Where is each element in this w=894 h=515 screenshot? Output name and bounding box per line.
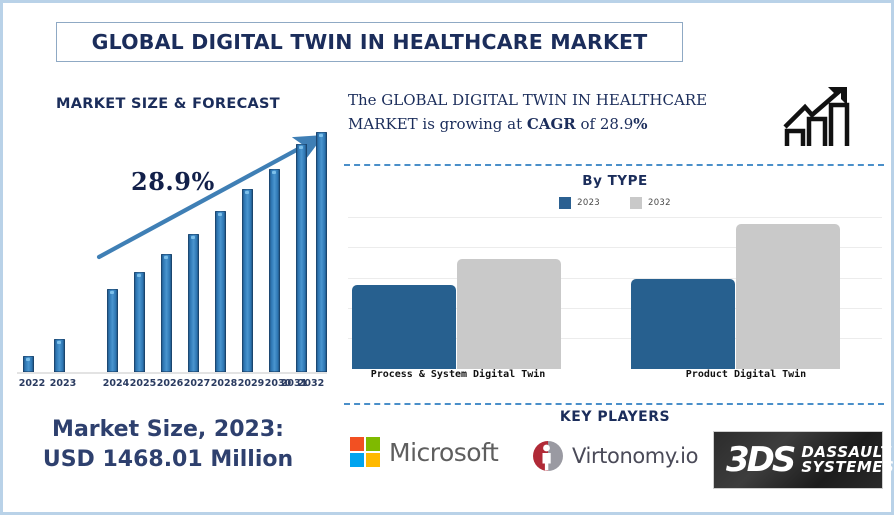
trend-label-2028: 2028: [209, 378, 239, 389]
type-label-process-system: Process & System Digital Twin: [350, 369, 566, 380]
description-percent: %: [633, 115, 647, 133]
by-type-legend: 2023 2032: [336, 197, 894, 209]
microsoft-logo: Microsoft: [350, 437, 498, 467]
type-label-product: Product Digital Twin: [640, 369, 852, 380]
dassault-systemes-logo: 3DS DASSAULT SYSTEMES: [713, 431, 883, 489]
microsoft-wordmark: Microsoft: [389, 438, 498, 467]
infographic-root: GLOBAL DIGITAL TWIN IN HEALTHCARE MARKET…: [0, 0, 894, 515]
trend-tall-bars: [17, 89, 327, 374]
legend-label-2032: 2032: [648, 198, 671, 208]
gridline-1: [348, 217, 882, 218]
legend-label-2023: 2023: [577, 198, 600, 208]
trend-label-2024: 2024: [101, 378, 131, 389]
virtonomy-logo: Virtonomy.io: [531, 439, 698, 473]
trend-label-2026: 2026: [155, 378, 185, 389]
by-type-axis-labels: Process & System Digital Twin Product Di…: [348, 369, 882, 387]
description-middle: of 28.9: [576, 115, 634, 133]
trend-label-2023: 2023: [48, 378, 78, 389]
market-size-line-2: USD 1468.01 Million: [3, 445, 333, 475]
divider-bottom: [344, 403, 884, 405]
trend-label-2029: 2029: [236, 378, 266, 389]
trend-label-2027: 2027: [182, 378, 212, 389]
bar-process-system-2023: [352, 285, 456, 369]
market-size-value: Market Size, 2023: USD 1468.01 Million: [3, 415, 333, 475]
market-size-line-1: Market Size, 2023:: [3, 415, 333, 445]
trend-axis-labels: 2022 2023 2024 2025 2026 2027 2028 2029 …: [17, 378, 327, 394]
divider-top: [344, 164, 884, 166]
bar-chart-growth-icon: [779, 83, 859, 153]
legend-item-2032: 2032: [630, 197, 671, 209]
by-type-chart: [348, 217, 882, 369]
bar-product-2023: [631, 279, 735, 369]
market-size-forecast-panel: MARKET SIZE & FORECAST 28.9%: [3, 69, 333, 514]
legend-swatch-2032: [630, 197, 642, 209]
microsoft-squares-icon: [350, 437, 380, 467]
page-title: GLOBAL DIGITAL TWIN IN HEALTHCARE MARKET: [92, 30, 648, 54]
legend-swatch-2023: [559, 197, 571, 209]
trend-label-2022: 2022: [17, 378, 47, 389]
key-players-logos: Microsoft Virtonomy.io 3DS DASSAULT SYST…: [336, 431, 894, 493]
by-type-heading: By TYPE: [336, 173, 894, 189]
market-description: The GLOBAL DIGITAL TWIN IN HEALTHCARE MA…: [348, 88, 768, 136]
page-title-box: GLOBAL DIGITAL TWIN IN HEALTHCARE MARKET: [56, 22, 683, 62]
trend-label-2032: 2032: [296, 378, 326, 389]
legend-item-2023: 2023: [559, 197, 600, 209]
description-cagr: CAGR: [527, 115, 576, 133]
dassault-line-2: SYSTEMES: [801, 460, 894, 475]
virtonomy-wordmark: Virtonomy.io: [572, 444, 698, 468]
key-players-heading: KEY PLAYERS: [336, 409, 894, 425]
bar-product-2032: [736, 224, 840, 369]
right-panel: The GLOBAL DIGITAL TWIN IN HEALTHCARE MA…: [336, 69, 894, 514]
trend-label-2025: 2025: [128, 378, 158, 389]
dassault-3ds-mark: 3DS: [726, 443, 793, 477]
bar-process-system-2032: [457, 259, 561, 369]
virtonomy-figure-icon: [531, 439, 565, 473]
dassault-wordmark: DASSAULT SYSTEMES: [801, 445, 894, 476]
